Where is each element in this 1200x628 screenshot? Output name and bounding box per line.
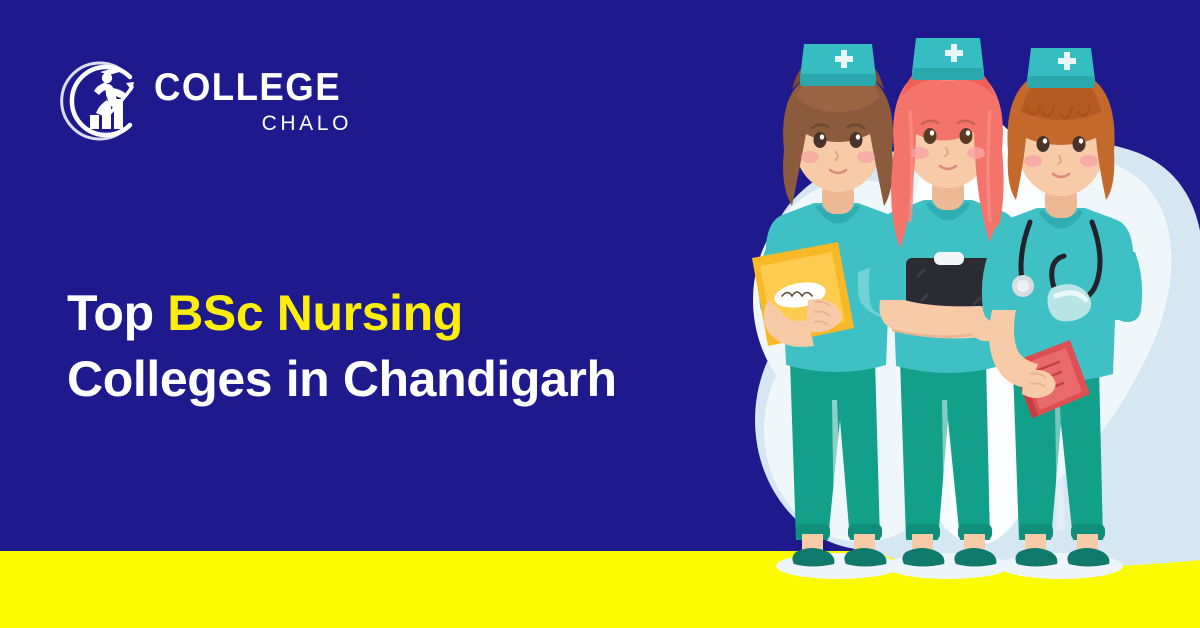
headline-line-1: Top BSc Nursing — [67, 280, 617, 346]
headline-prefix: Top — [67, 285, 167, 341]
nurse-cap-icon — [800, 44, 876, 86]
three-nurses-illustration — [730, 0, 1200, 628]
page-title: Top BSc Nursing Colleges in Chandigarh — [67, 280, 617, 412]
headline-line-2: Colleges in Chandigarh — [67, 346, 617, 412]
nurse-cap-icon — [1027, 48, 1095, 88]
college-chalo-logo[interactable]: COLLEGE CHALO — [60, 55, 320, 147]
logo-secondary-text: CHALO — [262, 113, 352, 134]
nurse-cap-icon — [912, 38, 984, 80]
logo-wordmark: COLLEGE CHALO — [154, 68, 353, 134]
graduate-running-bar-chart-circle-icon — [60, 57, 148, 145]
headline-accent: BSc Nursing — [167, 285, 463, 341]
banner-root: COLLEGE CHALO Top BSc Nursing Colleges i… — [0, 0, 1200, 628]
logo-primary-text: COLLEGE — [154, 68, 341, 107]
